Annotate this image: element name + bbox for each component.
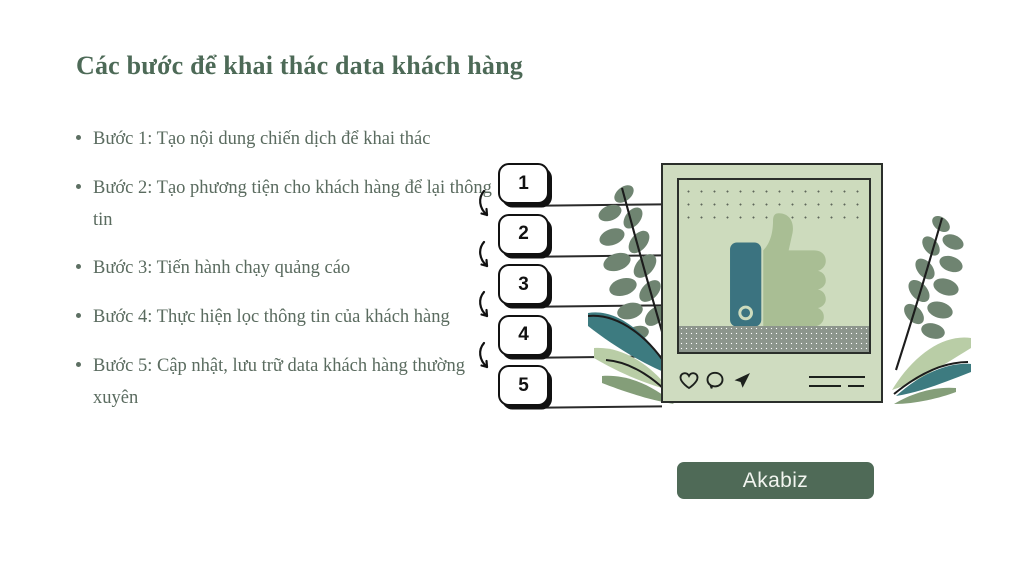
post-image — [677, 178, 871, 354]
list-item-label: Bước 5: Cập nhật, lưu trữ data khách hàn… — [93, 351, 492, 415]
step-row: 5 — [492, 365, 552, 416]
post-actions — [679, 371, 752, 390]
social-post-card — [661, 163, 883, 403]
list-item: Bước 4: Thực hiện lọc thông tin của khác… — [72, 302, 492, 334]
step-row: 2 — [492, 214, 552, 265]
list-item: Bước 5: Cập nhật, lưu trữ data khách hàn… — [72, 351, 492, 415]
list-item-label: Bước 3: Tiến hành chạy quảng cáo — [93, 253, 350, 285]
list-item: Bước 1: Tạo nội dung chiến dịch để khai … — [72, 124, 492, 156]
image-bottom-band — [679, 326, 869, 352]
post-caption-placeholder — [809, 376, 865, 387]
brand-button[interactable]: Akabiz — [677, 462, 874, 499]
step-box-2: 2 — [498, 214, 549, 255]
comment-icon[interactable] — [706, 371, 725, 390]
bullet-icon — [76, 184, 81, 189]
list-item-label: Bước 4: Thực hiện lọc thông tin của khác… — [93, 302, 450, 334]
plant-decoration-right — [876, 212, 971, 412]
page-title: Các bước để khai thác data khách hàng — [76, 51, 523, 81]
list-item-label: Bước 1: Tạo nội dung chiến dịch để khai … — [93, 124, 430, 156]
step-box-4: 4 — [498, 315, 549, 356]
slide-canvas: Các bước để khai thác data khách hàng Bư… — [0, 0, 1024, 576]
share-icon[interactable] — [732, 371, 752, 390]
bullet-icon — [76, 135, 81, 140]
step-number-column: 1 2 3 4 — [492, 163, 552, 416]
list-item-label: Bước 2: Tạo phương tiện cho khách hàng đ… — [93, 173, 492, 237]
step-box-1: 1 — [498, 163, 549, 204]
step-row: 3 — [492, 264, 552, 315]
bullet-icon — [76, 264, 81, 269]
bullet-icon — [76, 362, 81, 367]
list-item: Bước 3: Tiến hành chạy quảng cáo — [72, 253, 492, 285]
step-row: 1 — [492, 163, 552, 214]
heart-icon[interactable] — [679, 372, 699, 390]
list-item: Bước 2: Tạo phương tiện cho khách hàng đ… — [72, 173, 492, 237]
step-row: 4 — [492, 315, 552, 366]
bullet-icon — [76, 313, 81, 318]
step-box-5: 5 — [498, 365, 549, 406]
steps-list: Bước 1: Tạo nội dung chiến dịch để khai … — [72, 124, 492, 432]
step-box-3: 3 — [498, 264, 549, 305]
